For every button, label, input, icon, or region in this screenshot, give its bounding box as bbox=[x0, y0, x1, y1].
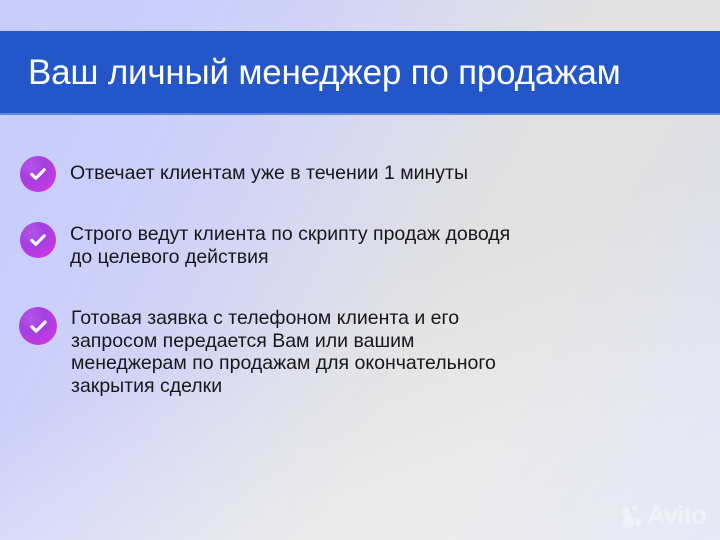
check-circle-icon bbox=[20, 222, 56, 258]
check-circle-icon bbox=[19, 307, 57, 345]
avito-dots-logo-icon bbox=[621, 504, 645, 528]
page-title: Ваш личный менеджер по продажам bbox=[28, 55, 621, 90]
slide-canvas: Ваш личный менеджер по продажам Отвечает… bbox=[0, 0, 720, 540]
list-item: Строго ведут клиента по скрипту продаж д… bbox=[18, 222, 510, 268]
avito-wordmark: Avito bbox=[647, 503, 706, 528]
check-circle-icon bbox=[20, 156, 56, 192]
avito-watermark: Avito bbox=[621, 503, 706, 528]
list-item: Готовая заявка с телефоном клиента и его… bbox=[18, 307, 496, 397]
bullet-icon-wrap bbox=[18, 222, 58, 258]
list-item: Отвечает клиентам уже в течении 1 минуты bbox=[18, 156, 468, 192]
bullet-icon-wrap bbox=[18, 307, 58, 345]
list-item-label: Отвечает клиентам уже в течении 1 минуты bbox=[70, 162, 468, 185]
title-band: Ваш личный менеджер по продажам bbox=[0, 31, 720, 115]
list-item-label: Готовая заявка с телефоном клиента и его… bbox=[71, 307, 496, 397]
list-item-label: Строго ведут клиента по скрипту продаж д… bbox=[70, 223, 510, 268]
bullet-icon-wrap bbox=[18, 156, 58, 192]
